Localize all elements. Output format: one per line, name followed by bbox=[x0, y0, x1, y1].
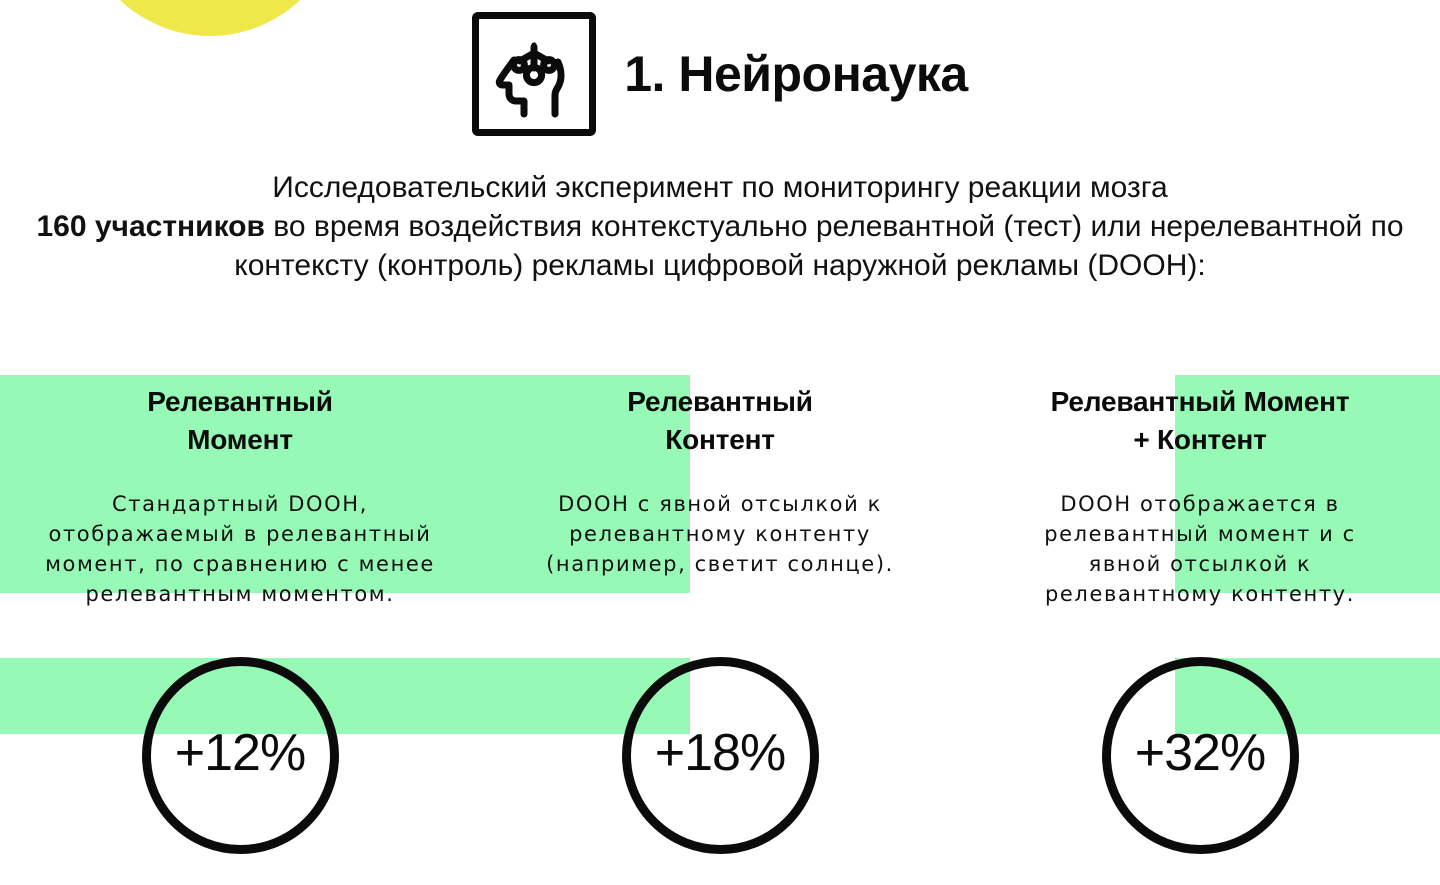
column-title: Релевантный Момент bbox=[28, 383, 452, 459]
participants-highlight: 160 участников bbox=[36, 210, 265, 243]
stat-value: +12% bbox=[175, 727, 305, 779]
stat-cell-relevant-moment: +12% bbox=[0, 655, 480, 855]
page-title: 1. Нейронаука bbox=[624, 49, 967, 99]
stat-circles-row: +12% +18% +32% bbox=[0, 655, 1440, 855]
column-description: Стандартный DOOH, отображаемый в релеван… bbox=[28, 489, 452, 609]
stat-circle: +12% bbox=[142, 657, 339, 854]
stat-value: +18% bbox=[655, 727, 785, 779]
column-description: DOOH отображается в релевантный момент и… bbox=[988, 489, 1412, 609]
intro-paragraph: Исследовательский эксперимент по монитор… bbox=[30, 168, 1410, 285]
column-title: Релевантный Момент + Контент bbox=[988, 383, 1412, 459]
head-neuroscience-icon bbox=[472, 12, 596, 136]
column-relevant-moment: Релевантный Момент Стандартный DOOH, ото… bbox=[0, 375, 480, 615]
column-relevant-moment-plus-content: Релевантный Момент + Контент DOOH отобра… bbox=[960, 375, 1440, 615]
column-relevant-content: Релевантный Контент DOOH с явной отсылко… bbox=[480, 375, 960, 615]
column-title: Релевантный Контент bbox=[508, 383, 932, 459]
stat-circle: +32% bbox=[1102, 657, 1299, 854]
stat-value: +32% bbox=[1135, 727, 1265, 779]
infographic-slide: 1. Нейронаука Исследовательский эксперим… bbox=[0, 0, 1440, 885]
condition-columns: Релевантный Момент Стандартный DOOH, ото… bbox=[0, 375, 1440, 615]
stat-circle: +18% bbox=[622, 657, 819, 854]
stat-cell-relevant-content: +18% bbox=[480, 655, 960, 855]
intro-line-rest: во время воздействия контекстуально реле… bbox=[234, 210, 1403, 282]
stat-cell-relevant-moment-plus-content: +32% bbox=[960, 655, 1440, 855]
section-header: 1. Нейронаука bbox=[0, 8, 1440, 140]
column-description: DOOH с явной отсылкой к релевантному кон… bbox=[508, 489, 932, 579]
intro-line-1: Исследовательский эксперимент по монитор… bbox=[272, 171, 1167, 204]
